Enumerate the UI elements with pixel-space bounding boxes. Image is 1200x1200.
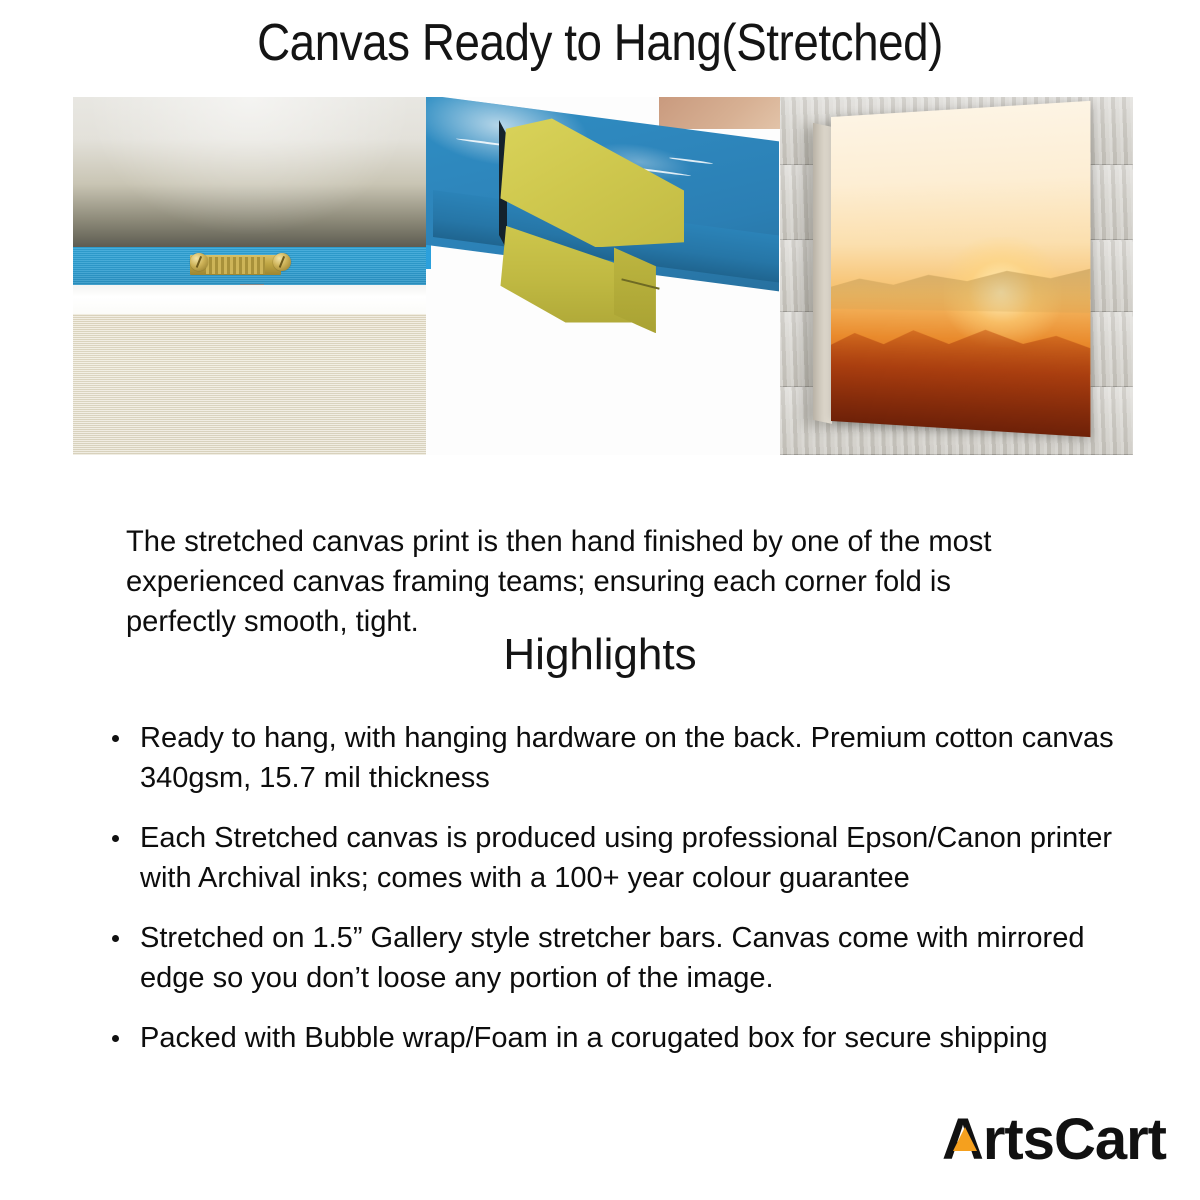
photo2-wisp-5 [669,157,713,165]
bullet-dot-icon [112,1035,119,1042]
photo1-white-band [73,285,426,315]
list-item: Each Stretched canvas is produced using … [106,818,1116,898]
bullet-dot-icon [112,935,119,942]
list-item-label: Ready to hang, with hanging hardware on … [140,722,1114,794]
bullet-dot-icon [112,735,119,742]
canvas-wrapped-side-edge [813,123,832,424]
brand-logo-wordmark: ArtsCart [942,1111,1166,1169]
canvas-printed-face [831,101,1090,438]
list-item: Packed with Bubble wrap/Foam in a coruga… [106,1018,1116,1058]
list-item-label: Stretched on 1.5” Gallery style stretche… [140,922,1084,994]
list-item: Stretched on 1.5” Gallery style stretche… [106,918,1116,998]
brand-logo: ArtsCart [942,1110,1166,1170]
canvas-corner-protector-image [426,97,779,455]
orange-triangle-icon [953,1127,977,1151]
list-item-label: Packed with Bubble wrap/Foam in a coruga… [140,1022,1048,1054]
bullet-dot-icon [112,835,119,842]
product-image-strip [73,97,1133,455]
list-item-label: Each Stretched canvas is produced using … [140,822,1112,894]
highlights-list: Ready to hang, with hanging hardware on … [106,718,1116,1078]
photo2-tan-corner [659,97,779,129]
intro-paragraph: The stretched canvas print is then hand … [126,522,1049,642]
hanger-screw-right [273,253,291,271]
photo1-canvas-texture [73,314,426,455]
canvas-back-hanger-image [73,97,426,455]
list-item: Ready to hang, with hanging hardware on … [106,718,1116,798]
page-title: Canvas Ready to Hang(Stretched) [72,12,1128,74]
highlights-heading: Highlights [0,628,1200,682]
canvas-hanging-on-wall-image [780,97,1133,455]
photo1-wall [73,97,426,247]
